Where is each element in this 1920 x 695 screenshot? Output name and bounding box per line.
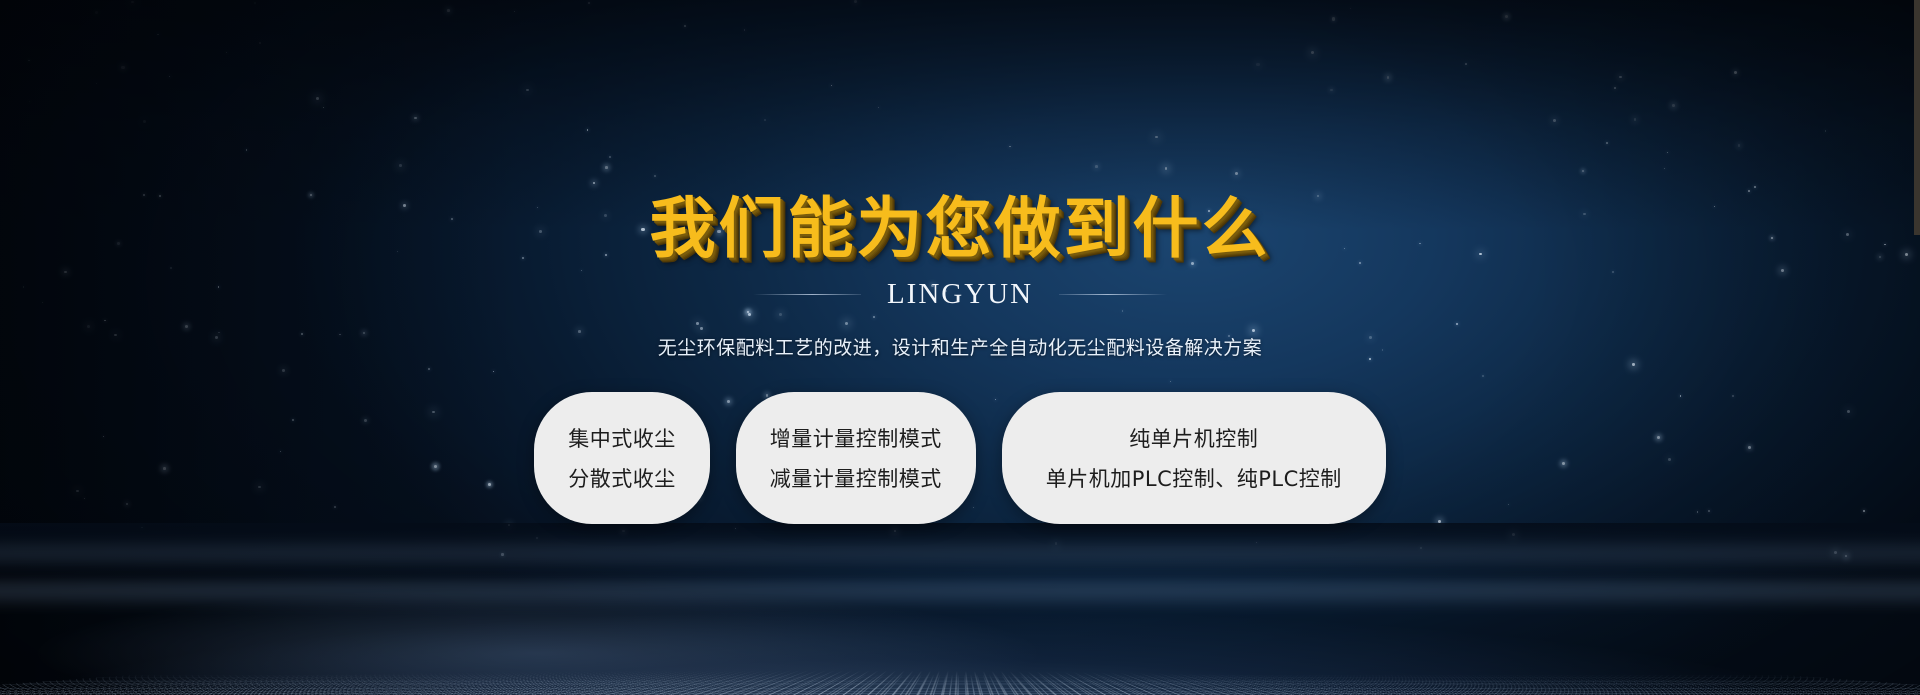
brand-name: LINGYUN	[887, 278, 1033, 311]
pill-line-2: 分散式收尘	[568, 463, 676, 493]
feature-pill-group: 集中式收尘 分散式收尘 增量计量控制模式 减量计量控制模式 纯单片机控制 单片机…	[534, 392, 1386, 524]
pill-line-2: 单片机加PLC控制、纯PLC控制	[1046, 463, 1342, 493]
pill-line-1: 纯单片机控制	[1129, 423, 1258, 453]
pill-line-1: 集中式收尘	[568, 423, 676, 453]
page-subtitle: 无尘环保配料工艺的改进，设计和生产全自动化无尘配料设备解决方案	[658, 333, 1263, 360]
brand-eyebrow: LINGYUN	[753, 278, 1167, 311]
hero-content: 我们能为您做到什么 LINGYUN 无尘环保配料工艺的改进，设计和生产全自动化无…	[0, 0, 1920, 695]
divider-line-left	[753, 294, 861, 295]
feature-pill-metering-mode[interactable]: 增量计量控制模式 减量计量控制模式	[736, 392, 976, 524]
page-title: 我们能为您做到什么	[650, 196, 1271, 262]
feature-pill-control-system[interactable]: 纯单片机控制 单片机加PLC控制、纯PLC控制	[1002, 392, 1386, 524]
pill-line-2: 减量计量控制模式	[770, 463, 942, 493]
feature-pill-dust-collection[interactable]: 集中式收尘 分散式收尘	[534, 392, 710, 524]
hero-banner: 我们能为您做到什么 LINGYUN 无尘环保配料工艺的改进，设计和生产全自动化无…	[0, 0, 1920, 695]
pill-line-1: 增量计量控制模式	[770, 423, 942, 453]
divider-line-right	[1059, 294, 1167, 295]
